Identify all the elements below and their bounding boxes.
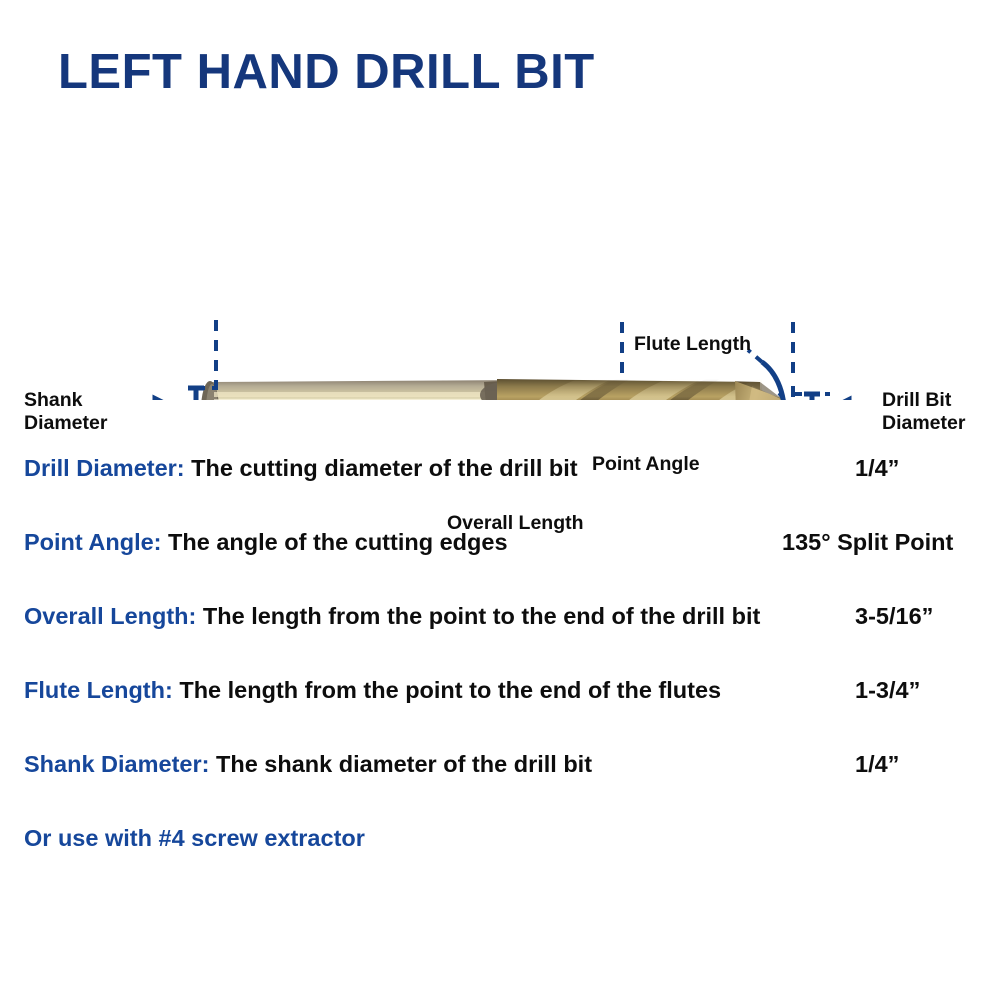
spec-description: The angle of the cutting edges — [162, 529, 508, 555]
page-title: LEFT HAND DRILL BIT — [58, 44, 595, 100]
spec-line: Flute Length: The length from the point … — [24, 677, 721, 704]
spec-row: Shank Diameter: The shank diameter of th… — [0, 751, 1000, 825]
spec-row: Flute Length: The length from the point … — [0, 677, 1000, 751]
footer-note: Or use with #4 screw extractor — [24, 825, 365, 852]
label-shank-diameter: Shank Diameter — [24, 389, 107, 435]
spec-value: 1-3/4” — [855, 677, 920, 704]
label-shank-diameter-line1: Shank — [24, 389, 107, 412]
spec-line: Point Angle: The angle of the cutting ed… — [24, 529, 508, 556]
label-flute-length: Flute Length — [634, 333, 751, 356]
spec-term: Point Angle: — [24, 529, 162, 555]
drill-bit-illustration: 1/4 HSS Co — [201, 379, 810, 400]
spec-row: Point Angle: The angle of the cutting ed… — [0, 529, 1000, 603]
spec-description: The length from the point to the end of … — [196, 603, 760, 629]
spec-description: The cutting diameter of the drill bit — [185, 455, 578, 481]
spec-value: 3-5/16” — [855, 603, 933, 630]
drill-bit-diagram: 1/4 HSS Co — [0, 150, 1000, 400]
label-drill-bit-diameter-line2: Diameter — [882, 412, 965, 435]
spec-value: 1/4” — [855, 455, 899, 482]
product-spec-page: LEFT HAND DRILL BIT — [0, 0, 1000, 1000]
drill-bit-shank — [201, 380, 520, 400]
spec-line: Drill Diameter: The cutting diameter of … — [24, 455, 578, 482]
drill-bit-diameter-dimension — [793, 394, 876, 400]
label-drill-bit-diameter-line1: Drill Bit — [882, 389, 965, 412]
label-shank-diameter-line2: Diameter — [24, 412, 107, 435]
spec-value: 135° Split Point — [782, 529, 953, 556]
label-drill-bit-diameter: Drill Bit Diameter — [882, 389, 965, 435]
spec-description: The shank diameter of the drill bit — [209, 751, 592, 777]
spec-term: Drill Diameter: — [24, 455, 185, 481]
drill-bit-tip — [735, 381, 783, 400]
spec-description: The length from the point to the end of … — [173, 677, 721, 703]
spec-line: Overall Length: The length from the poin… — [24, 603, 760, 630]
spec-term: Flute Length: — [24, 677, 173, 703]
spec-row: Drill Diameter: The cutting diameter of … — [0, 455, 1000, 529]
spec-term: Shank Diameter: — [24, 751, 209, 777]
spec-value: 1/4” — [855, 751, 899, 778]
spec-line: Shank Diameter: The shank diameter of th… — [24, 751, 592, 778]
spec-list: Drill Diameter: The cutting diameter of … — [0, 455, 1000, 825]
diagram-svg: 1/4 HSS Co — [0, 150, 1000, 400]
spec-row: Overall Length: The length from the poin… — [0, 603, 1000, 677]
spec-term: Overall Length: — [24, 603, 196, 629]
